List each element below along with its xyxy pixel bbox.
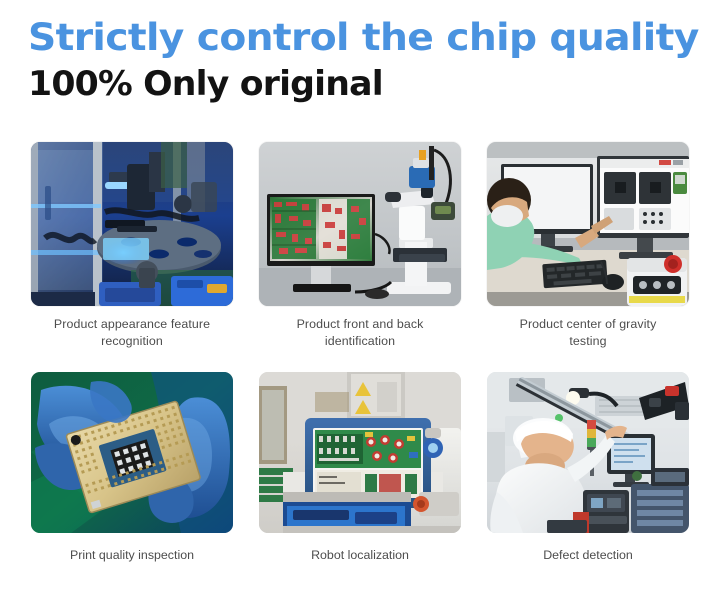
thumbnail-operator-at-dual-monitors[interactable] xyxy=(487,142,689,306)
gallery-row-2: Print quality inspection xyxy=(31,372,690,564)
thumbnail-cleanroom-worker-inspecting[interactable] xyxy=(487,372,689,533)
caption-line-2: recognition xyxy=(101,334,163,348)
gallery-caption: Product center of gravity testing xyxy=(487,316,689,350)
gallery-item-product-center-of-gravity-testing[interactable]: Product center of gravity testing xyxy=(487,142,689,350)
caption-line-2: testing xyxy=(569,334,606,348)
thumbnail-microscope-with-pcb-monitor[interactable] xyxy=(259,142,461,306)
gallery-item-product-front-and-back-identification[interactable]: Product front and back identification xyxy=(259,142,461,350)
gallery-item-robot-localization[interactable]: Robot localization xyxy=(259,372,461,564)
thumbnail-aoi-machine-with-screen[interactable] xyxy=(259,372,461,533)
caption-line-1: Product center of gravity xyxy=(520,317,657,331)
gallery-item-print-quality-inspection[interactable]: Print quality inspection xyxy=(31,372,233,564)
page-title-secondary: 100% Only original xyxy=(28,65,720,103)
gallery-caption: Product front and back identification xyxy=(259,316,461,350)
thumbnail-blue-lit-inspection-machine[interactable] xyxy=(31,142,233,306)
illustration-microscope-with-pcb-monitor xyxy=(259,142,461,306)
chip-quality-banner: Strictly control the chip quality 100% O… xyxy=(0,0,720,614)
gallery-item-product-appearance-feature-recognition[interactable]: Product appearance feature recognition xyxy=(31,142,233,350)
page-title-primary: Strictly control the chip quality xyxy=(28,18,720,58)
illustration-aoi-machine-with-screen xyxy=(259,372,461,533)
illustration-operator-at-dual-monitors xyxy=(487,142,689,306)
illustration-cleanroom-worker-inspecting xyxy=(487,372,689,533)
gallery-caption: Defect detection xyxy=(487,547,689,564)
caption-line-1: Product appearance feature xyxy=(54,317,210,331)
illustration-gloved-hands-holding-cpu xyxy=(31,372,233,533)
headings-block: Strictly control the chip quality 100% O… xyxy=(0,0,720,103)
gallery-caption: Print quality inspection xyxy=(31,547,233,564)
gallery-row-1: Product appearance feature recognition xyxy=(31,142,690,350)
gallery-caption: Product appearance feature recognition xyxy=(31,316,233,350)
caption-line-1: Product front and back xyxy=(297,317,424,331)
thumbnail-gloved-hands-holding-cpu[interactable] xyxy=(31,372,233,533)
illustration-blue-lit-inspection-machine xyxy=(31,142,233,306)
gallery-item-defect-detection[interactable]: Defect detection xyxy=(487,372,689,564)
gallery-caption: Robot localization xyxy=(259,547,461,564)
caption-line-2: identification xyxy=(325,334,395,348)
